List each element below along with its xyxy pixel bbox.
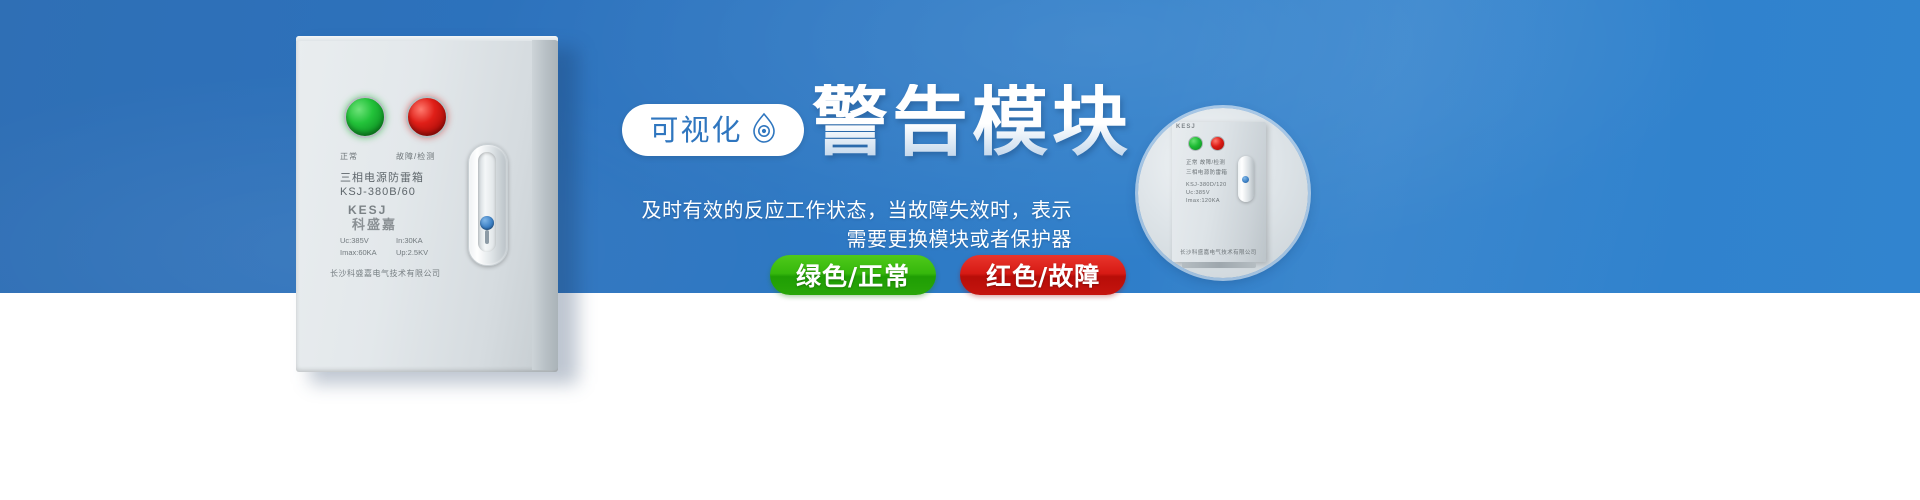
page-title: 警告模块 xyxy=(812,84,1132,160)
device-spec-uc: Uc:385V xyxy=(340,236,369,245)
device-spec-up: Up:2.5KV xyxy=(396,248,428,257)
circle-device-base xyxy=(1182,262,1256,268)
device-top-edge xyxy=(296,36,558,41)
banner-subtitle-line-1: 及时有效的反应工作状态，当故障失效时，表示 xyxy=(580,196,1072,225)
circle-product-title: 三相电源防雷箱 xyxy=(1186,168,1227,176)
device-model: KSJ-380B/60 xyxy=(340,186,416,198)
circle-spec-2: Imax:120KA xyxy=(1186,198,1220,204)
device-side-panel xyxy=(532,40,558,370)
green-indicator-lamp-icon xyxy=(344,96,386,138)
circle-red-indicator-lamp-icon xyxy=(1210,136,1225,151)
device-handle-button-icon xyxy=(480,216,494,230)
visualization-badge: 可视化 xyxy=(622,104,804,156)
device-product-title: 三相电源防雷箱 xyxy=(340,169,424,185)
status-badge-fault: 红色/故障 xyxy=(960,255,1126,295)
circle-company-name: 长沙科盛嘉电气技术有限公司 xyxy=(1180,248,1257,256)
device-circle-photo: KESJ 正常 故障/检测 三相电源防雷箱 KSJ-380D/120 Uc:38… xyxy=(1138,108,1308,278)
device-spec-in: In:30KA xyxy=(396,236,423,245)
circle-model: KSJ-380D/120 xyxy=(1186,182,1227,188)
visualization-badge-label: 可视化 xyxy=(649,116,742,145)
device-brand-cn: 科盛嘉 xyxy=(352,214,397,233)
lamp-label-fault: 故障/检测 xyxy=(396,151,435,162)
banner-subtitle: 及时有效的反应工作状态，当故障失效时，表示 需要更换模块或者保护器 xyxy=(580,196,1072,254)
circle-spec-1: Uc:385V xyxy=(1186,190,1210,196)
device-enclosure: 正常 故障/检测 三相电源防雷箱 KSJ-380B/60 KESJ 科盛嘉 Uc… xyxy=(296,36,558,372)
location-eye-icon xyxy=(751,112,777,149)
promo-banner: 正常 故障/检测 三相电源防雷箱 KSJ-380B/60 KESJ 科盛嘉 Uc… xyxy=(0,0,1920,500)
status-badge-row: 绿色/正常 红色/故障 xyxy=(770,255,1126,295)
red-indicator-lamp-icon xyxy=(406,96,448,138)
status-badge-normal: 绿色/正常 xyxy=(770,255,936,295)
device-company-name: 长沙科盛嘉电气技术有限公司 xyxy=(330,268,441,279)
banner-subtitle-line-2: 需要更换模块或者保护器 xyxy=(580,225,1072,254)
circle-device-handle-button-icon xyxy=(1242,176,1249,183)
circle-green-indicator-lamp-icon xyxy=(1188,136,1203,151)
device-photo: 正常 故障/检测 三相电源防雷箱 KSJ-380B/60 KESJ 科盛嘉 Uc… xyxy=(296,36,558,372)
circle-device-brand: KESJ xyxy=(1176,124,1196,130)
device-spec-imax: Imax:60KA xyxy=(340,248,377,257)
banner-background-white xyxy=(0,293,1920,500)
device-handle-keyhole-icon xyxy=(485,230,489,244)
lamp-label-normal: 正常 xyxy=(340,151,358,162)
circle-lamp-labels: 正常 故障/检测 xyxy=(1186,158,1225,166)
